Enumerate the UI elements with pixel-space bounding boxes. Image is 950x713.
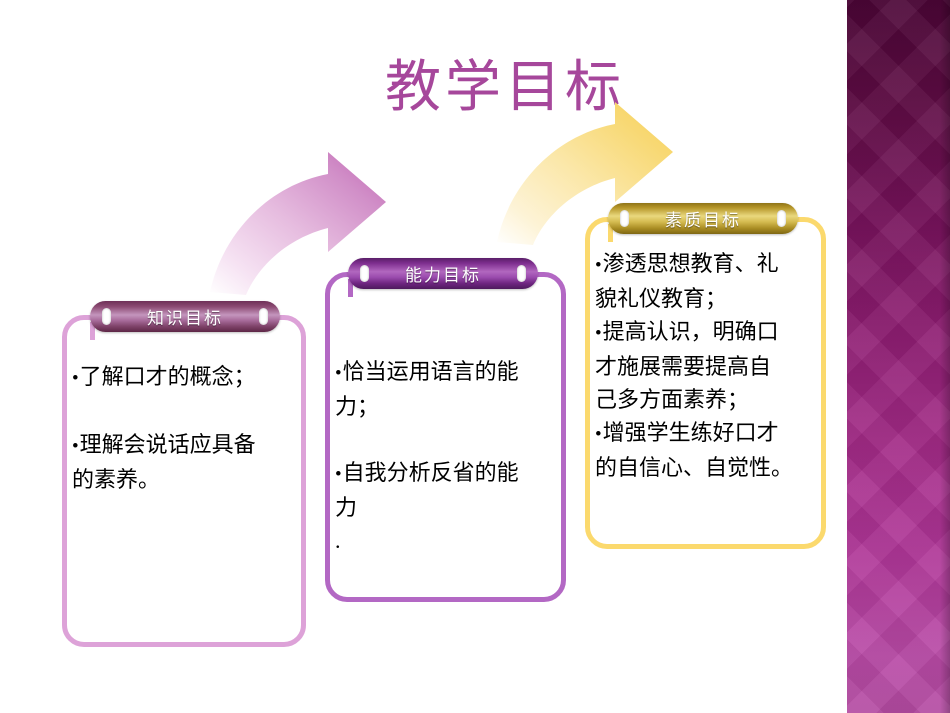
card-quality-badge-label: 素质目标 [665, 206, 741, 231]
badge-rivet-right-icon [777, 210, 786, 227]
list-item-cont: 的素养。 [72, 463, 300, 496]
card-ability-badge-label: 能力目标 [405, 261, 481, 286]
badge-rivet-left-icon [102, 308, 111, 325]
list-item: 渗透思想教育、礼 [595, 247, 821, 282]
list-item: 提高认识，明确口 [595, 315, 821, 350]
list-item-cont: 己多方面素养； [595, 383, 821, 416]
card-ability-body: 恰当运用语言的能 力； 自我分析反省的能 力 . [335, 355, 561, 557]
badge-rivet-right-icon [259, 308, 268, 325]
list-item: 自我分析反省的能 [335, 456, 561, 491]
list-item-trailing-dot: . [335, 524, 561, 557]
badge-rivet-left-icon [620, 210, 629, 227]
list-item: 理解会说话应具备 [72, 428, 300, 463]
list-item-cont: 力 [335, 491, 561, 524]
card-quality-badge[interactable]: 素质目标 [608, 203, 798, 234]
card-knowledge-badge-label: 知识目标 [147, 304, 223, 329]
badge-rivet-right-icon [517, 265, 526, 282]
list-item: 增强学生练好口才 [595, 416, 821, 451]
list-item-cont: 才施展需要提高自 [595, 350, 821, 383]
list-item-cont: 貌礼仪教育； [595, 282, 821, 315]
sidebar-edge-shadow [940, 0, 950, 713]
badge-rivet-left-icon [360, 265, 369, 282]
card-quality-body: 渗透思想教育、礼 貌礼仪教育； 提高认识，明确口 才施展需要提高自 己多方面素养… [595, 247, 821, 484]
list-item-cont: 力； [335, 390, 561, 423]
card-ability-badge[interactable]: 能力目标 [348, 258, 538, 289]
card-knowledge-body: 了解口才的概念； 理解会说话应具备 的素养。 [72, 360, 300, 496]
decorative-sidebar-band [847, 0, 950, 713]
list-item: 恰当运用语言的能 [335, 355, 561, 390]
list-item: 了解口才的概念； [72, 360, 300, 395]
page-title: 教学目标 [340, 57, 670, 119]
card-knowledge-badge[interactable]: 知识目标 [90, 301, 280, 332]
slide-canvas: 教学目标 知识目标 [0, 0, 950, 713]
list-item-cont: 的自信心、自觉性。 [595, 451, 821, 484]
